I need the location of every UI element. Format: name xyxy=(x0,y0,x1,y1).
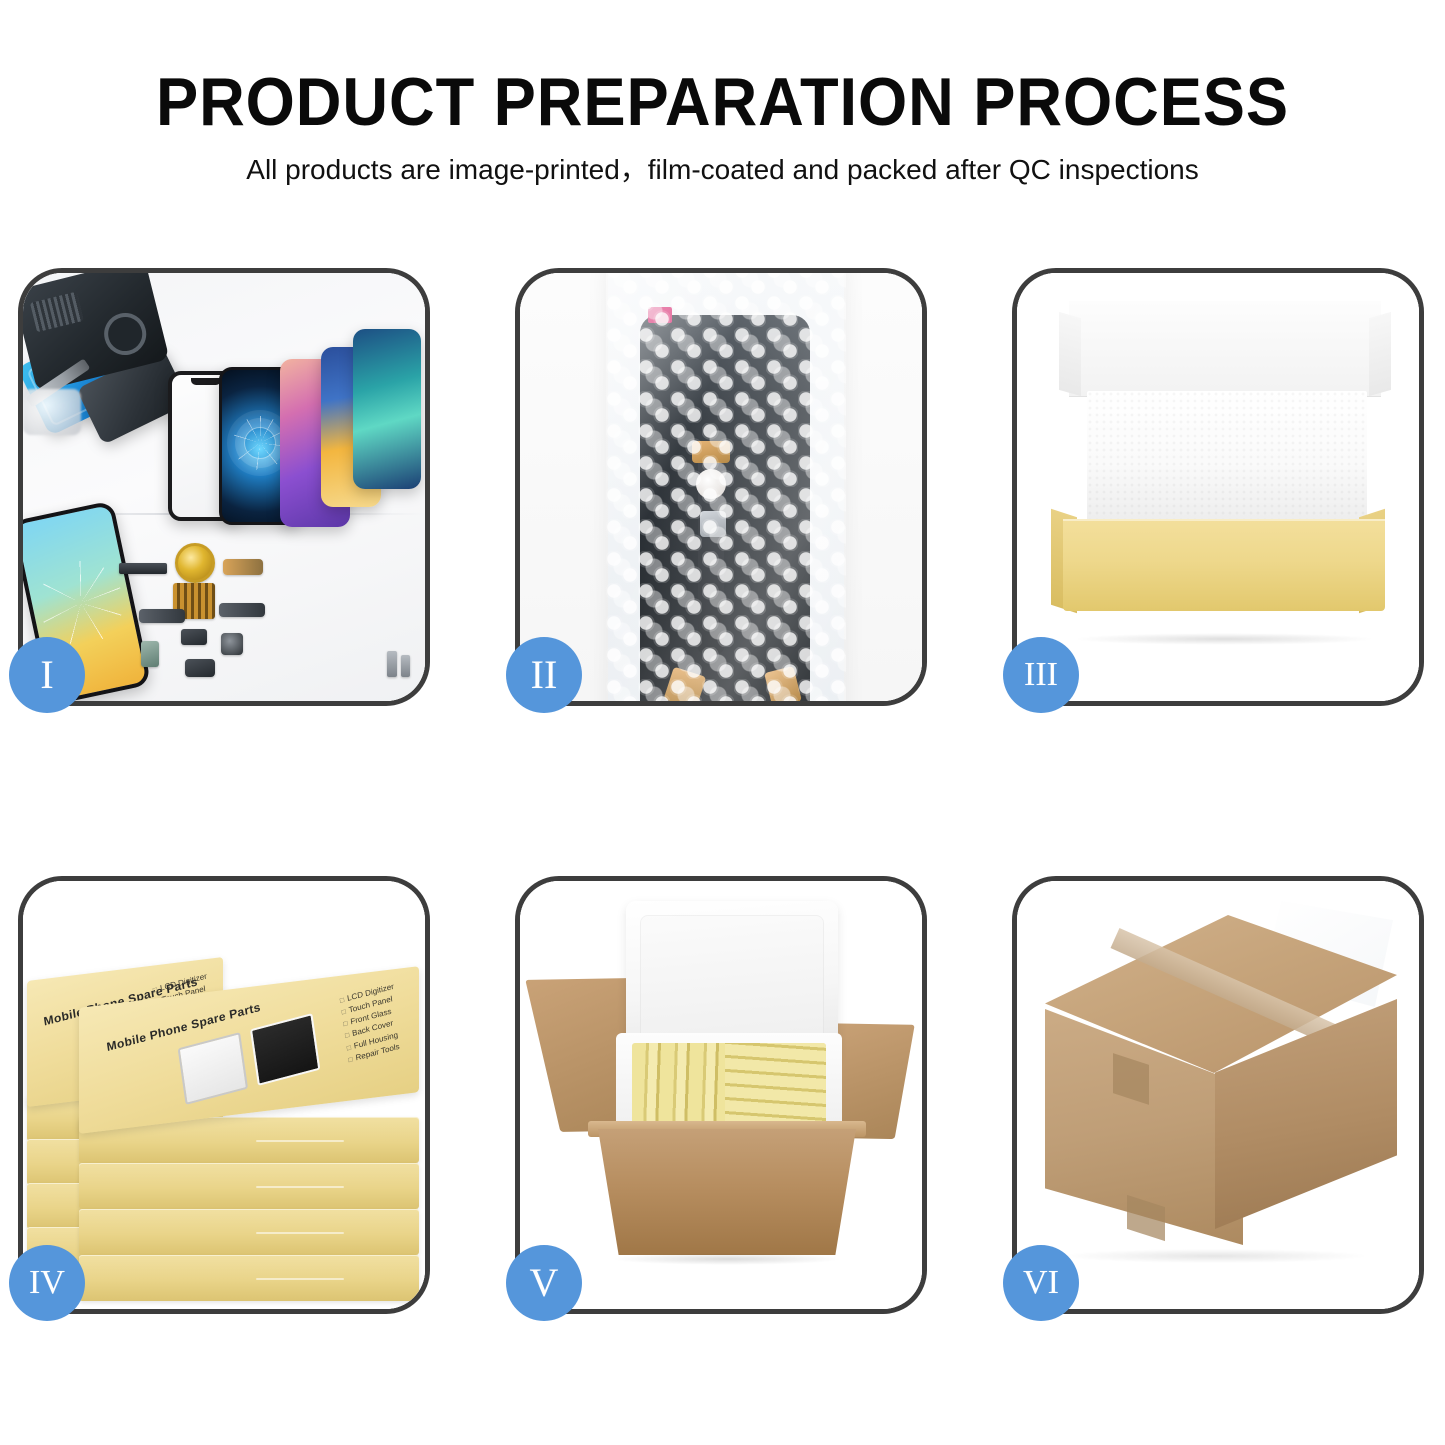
white-foam-graphic xyxy=(1087,391,1367,523)
carton-with-foam-cooler-image xyxy=(520,881,922,1309)
stacked-retail-boxes-image: Mobile Phone Spare Parts LCD Digitizer T… xyxy=(23,881,425,1309)
step-card-2: II xyxy=(515,268,927,706)
step-badge-5: V xyxy=(506,1245,582,1321)
page-subtitle: All products are image-printed，film-coat… xyxy=(0,153,1445,187)
speaker-graphic xyxy=(181,629,207,645)
tool-glow-graphic xyxy=(23,389,81,435)
page-title: PRODUCT PREPARATION PROCESS xyxy=(51,68,1395,137)
header: PRODUCT PREPARATION PROCESS All products… xyxy=(0,68,1445,187)
step-badge-3: III xyxy=(1003,637,1079,713)
retail-box-checklist-right: LCD Digitizer Touch Panel Front Glass Ba… xyxy=(339,981,403,1066)
sim-tray-graphic xyxy=(141,641,159,667)
flex-cable-3-graphic xyxy=(219,603,265,617)
step-badge-6: VI xyxy=(1003,1245,1079,1321)
open-inner-box-image xyxy=(1017,273,1419,701)
wrap-gloss-overlay xyxy=(606,273,846,701)
camera-module-graphic xyxy=(221,633,243,655)
screwdriver-graphic xyxy=(387,651,397,677)
step-card-1: I xyxy=(18,268,430,706)
teal-phone-graphic xyxy=(353,329,421,489)
step-card-3: III xyxy=(1012,268,1424,706)
step-badge-4: IV xyxy=(9,1245,85,1321)
screws-graphic xyxy=(401,655,410,677)
flex-cable-1-graphic xyxy=(223,559,263,575)
box-front-panel-graphic xyxy=(1063,519,1385,611)
carton-body-graphic xyxy=(598,1129,856,1255)
step-badge-2: II xyxy=(506,637,582,713)
flex-cable-2-graphic xyxy=(139,609,185,623)
step-card-4: Mobile Phone Spare Parts LCD Digitizer T… xyxy=(18,876,430,1314)
process-step-grid: I II xyxy=(18,268,1428,1313)
step-card-5: V xyxy=(515,876,927,1314)
wireless-coil-graphic xyxy=(175,543,215,583)
box-shadow-graphic xyxy=(1073,633,1375,645)
sealed-shipping-carton-image xyxy=(1017,881,1419,1309)
step-badge-1: I xyxy=(9,637,85,713)
packed-boxes-graphic xyxy=(632,1043,826,1125)
step-card-6: VI xyxy=(1012,876,1424,1314)
box-lid-graphic xyxy=(1069,301,1381,397)
retail-box-top-right: Mobile Phone Spare Parts LCD Digitizer T… xyxy=(79,966,419,1134)
right-box-stack: Mobile Phone Spare Parts LCD Digitizer T… xyxy=(79,987,419,1309)
bubble-wrapped-part-image xyxy=(520,273,922,701)
product-preparation-infographic: PRODUCT PREPARATION PROCESS All products… xyxy=(0,0,1445,1445)
earpiece-strip-graphic xyxy=(119,563,167,574)
carton-shadow-graphic xyxy=(612,1253,842,1265)
button-module-graphic xyxy=(185,659,215,677)
sealed-carton-shadow-graphic xyxy=(1065,1249,1365,1263)
parts-collage-image xyxy=(23,273,425,701)
